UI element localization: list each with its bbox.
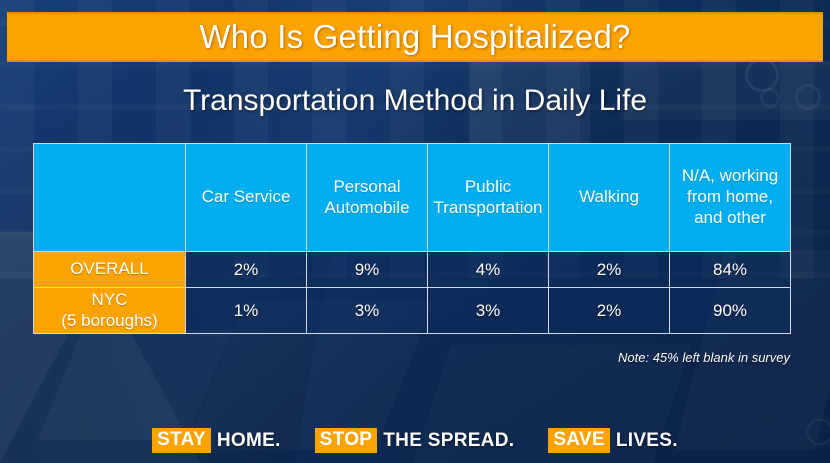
table-row: OVERALL 2% 9% 4% 2% 84% xyxy=(34,252,791,288)
slogan-text: LIVES. xyxy=(616,430,678,452)
page-title: Who Is Getting Hospitalized? xyxy=(199,18,630,56)
subtitle: Transportation Method in Daily Life xyxy=(0,84,830,118)
cell-nyc-car-service: 1% xyxy=(186,288,307,334)
column-header-public-transportation: Public Transportation xyxy=(428,144,549,252)
column-header-walking: Walking xyxy=(549,144,670,252)
cell-nyc-walking: 2% xyxy=(549,288,670,334)
slogan-save-lives: SAVE LIVES. xyxy=(548,428,678,453)
title-banner: Who Is Getting Hospitalized? xyxy=(7,12,823,62)
cell-nyc-personal-automobile: 3% xyxy=(307,288,428,334)
table-corner-cell xyxy=(34,144,186,252)
cell-overall-public-transportation: 4% xyxy=(428,252,549,288)
footer-slogans: STAY HOME. STOP THE SPREAD. SAVE LIVES. xyxy=(0,428,830,453)
cell-overall-na: 84% xyxy=(670,252,791,288)
slogan-text: HOME. xyxy=(217,430,281,452)
table-note: Note: 45% left blank in survey xyxy=(618,350,790,365)
data-table-container: Car Service Personal Automobile Public T… xyxy=(33,143,790,334)
row-label-nyc: NYC (5 boroughs) xyxy=(34,288,186,334)
cell-nyc-public-transportation: 3% xyxy=(428,288,549,334)
cell-overall-personal-automobile: 9% xyxy=(307,252,428,288)
cell-overall-walking: 2% xyxy=(549,252,670,288)
slogan-stay-home: STAY HOME. xyxy=(152,428,281,453)
cell-nyc-na: 90% xyxy=(670,288,791,334)
row-label-nyc-line2: (5 boroughs) xyxy=(34,311,185,331)
background-shape xyxy=(38,330,232,440)
slogan-highlight: STOP xyxy=(315,428,378,453)
column-header-personal-automobile: Personal Automobile xyxy=(307,144,428,252)
row-label-overall: OVERALL xyxy=(34,252,186,288)
slogan-highlight: SAVE xyxy=(548,428,610,453)
column-header-na-working-from-home: N/A, working from home, and other xyxy=(670,144,791,252)
slogan-text: THE SPREAD. xyxy=(383,430,514,452)
slogan-stop-the-spread: STOP THE SPREAD. xyxy=(315,428,515,453)
transportation-table: Car Service Personal Automobile Public T… xyxy=(33,143,791,334)
slogan-highlight: STAY xyxy=(152,428,211,453)
row-label-nyc-line1: NYC xyxy=(34,290,185,310)
table-header-row: Car Service Personal Automobile Public T… xyxy=(34,144,791,252)
column-header-car-service: Car Service xyxy=(186,144,307,252)
table-row: NYC (5 boroughs) 1% 3% 3% 2% 90% xyxy=(34,288,791,334)
cell-overall-car-service: 2% xyxy=(186,252,307,288)
